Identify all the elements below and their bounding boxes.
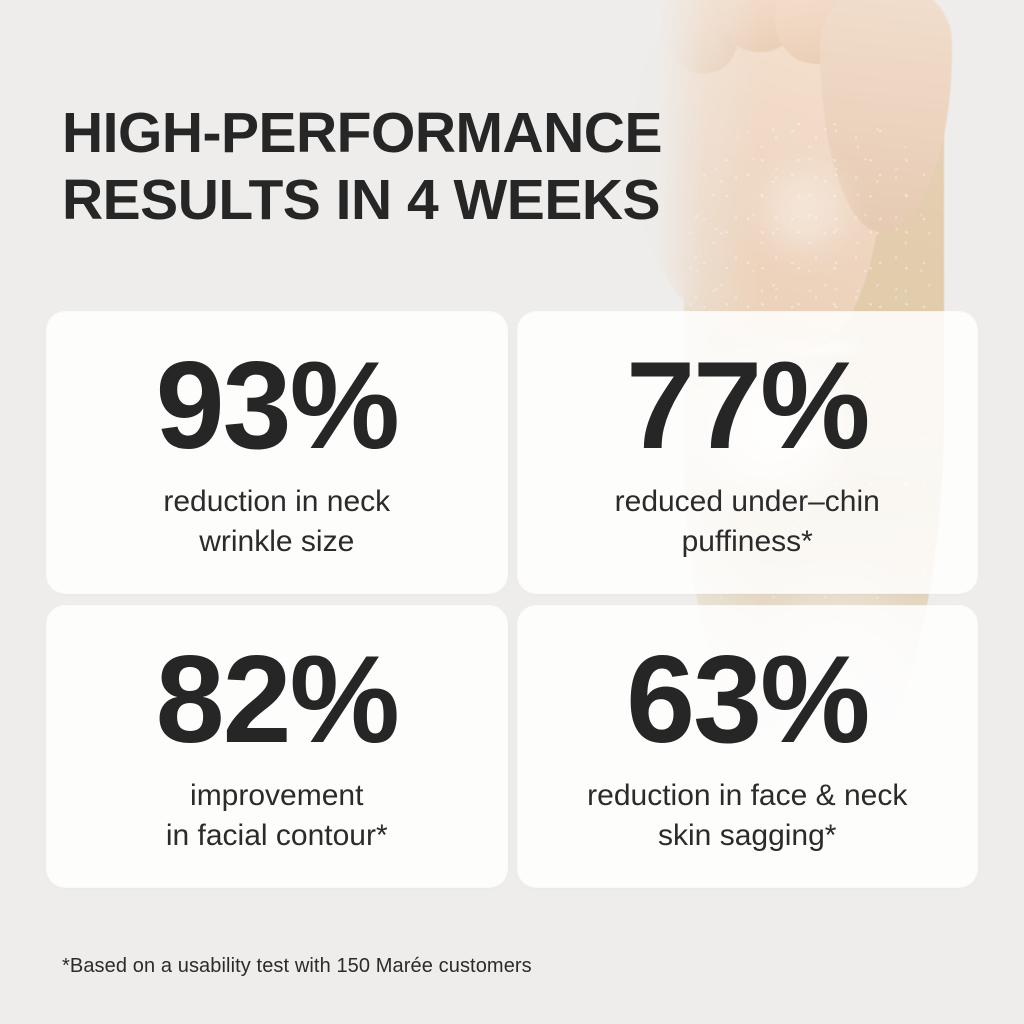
stat-value: 93% (156, 344, 398, 468)
page-title: HIGH-PERFORMANCE RESULTS IN 4 WEEKS (62, 100, 762, 234)
stat-value: 82% (156, 638, 398, 762)
stat-card-under-chin-puffiness: 77% reduced under–chin puffiness* (518, 312, 978, 593)
stat-label: reduced under–chin puffiness* (615, 482, 880, 562)
stat-card-neck-wrinkle: 93% reduction in neck wrinkle size (47, 312, 507, 593)
stat-label: reduction in neck wrinkle size (163, 482, 390, 562)
stat-label: reduction in face & neck skin sagging* (587, 776, 907, 856)
stat-value: 77% (626, 344, 868, 468)
results-infographic: { "theme": { "background": "#eeedeb", "t… (0, 0, 1024, 1024)
footnote-disclaimer: *Based on a usability test with 150 Maré… (62, 955, 532, 978)
stat-card-facial-contour: 82% improvement in facial contour* (47, 606, 507, 887)
stats-card-grid: 93% reduction in neck wrinkle size 77% r… (47, 312, 977, 887)
stat-label: improvement in facial contour* (166, 776, 388, 856)
stat-value: 63% (626, 638, 868, 762)
stat-card-skin-sagging: 63% reduction in face & neck skin saggin… (518, 606, 978, 887)
